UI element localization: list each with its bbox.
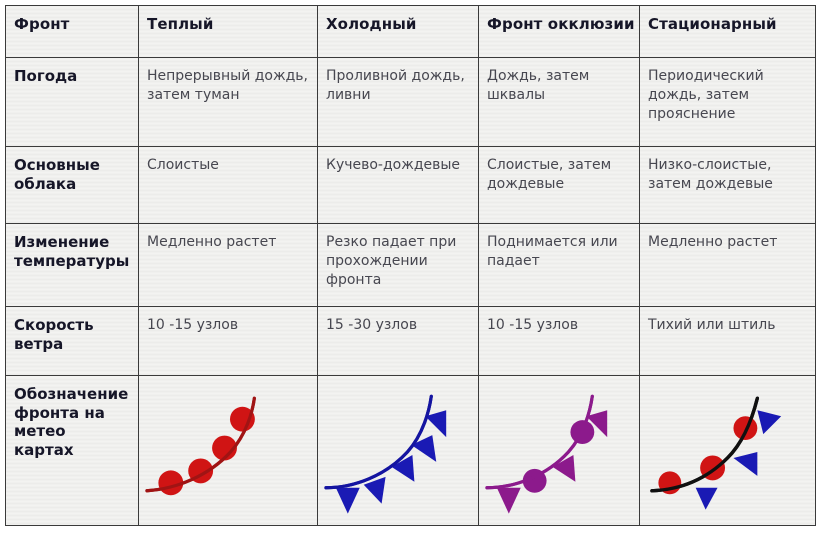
cell-temperature-cold: Резко падает при прохождении фронта	[318, 224, 479, 307]
cell-clouds-occluded: Слоистые, затем дождевые	[479, 147, 640, 224]
cell-wind-speed-stationary: Тихий или штиль	[640, 307, 816, 376]
cell-temperature-occluded: Поднимается или падает	[479, 224, 640, 307]
cell-map-symbol-warm	[139, 376, 318, 526]
occluded-front-symbol	[479, 376, 639, 524]
cell-wind-speed-warm: 10 -15 узлов	[139, 307, 318, 376]
cell-weather-warm: Непрерывный дождь, затем туман	[139, 58, 318, 147]
cold-front-barbs	[336, 410, 446, 513]
cell-temperature-stationary: Медленно растет	[640, 224, 816, 307]
cell-weather-cold: Проливной дождь, ливни	[318, 58, 479, 147]
cell-clouds-warm: Слоистые	[139, 147, 318, 224]
cell-wind-speed-cold: 15 -30 узлов	[318, 307, 479, 376]
front-types-table-page: Фронт Теплый Холодный Фронт окклюзии Ста…	[0, 0, 820, 538]
row-header-temperature: Изменение температуры	[6, 224, 139, 307]
column-header-warm: Теплый	[139, 6, 318, 58]
row-header-weather: Погода	[6, 58, 139, 147]
cell-map-symbol-occluded	[479, 376, 640, 526]
column-header-property: Фронт	[6, 6, 139, 58]
cell-temperature-warm: Медленно растет	[139, 224, 318, 307]
cell-clouds-cold: Кучево-дождевые	[318, 147, 479, 224]
row-header-map-symbol: Обозначение фронта на метео картах	[6, 376, 139, 526]
table-row-weather: Погода Непрерывный дождь, затем туман Пр…	[6, 58, 816, 147]
table-row-wind-speed: Скорость ветра 10 -15 узлов 15 -30 узлов…	[6, 307, 816, 376]
cell-weather-occluded: Дождь, затем шквалы	[479, 58, 640, 147]
cell-map-symbol-stationary	[640, 376, 816, 526]
cell-weather-stationary: Периодический дождь, затем прояснение	[640, 58, 816, 147]
cell-clouds-stationary: Низко-слоистые, затем дождевые	[640, 147, 816, 224]
atmospheric-fronts-table: Фронт Теплый Холодный Фронт окклюзии Ста…	[5, 5, 816, 526]
row-header-clouds: Основные облака	[6, 147, 139, 224]
cell-wind-speed-occluded: 10 -15 узлов	[479, 307, 640, 376]
column-header-occluded: Фронт окклюзии	[479, 6, 640, 58]
table-header-row: Фронт Теплый Холодный Фронт окклюзии Ста…	[6, 6, 816, 58]
table-row-clouds: Основные облака Слоистые Кучево-дождевые…	[6, 147, 816, 224]
cold-front-symbol	[318, 376, 478, 524]
stationary-front-symbol	[640, 376, 815, 524]
cell-map-symbol-cold	[318, 376, 479, 526]
occluded-front-markers	[497, 410, 607, 513]
column-header-stationary: Стационарный	[640, 6, 816, 58]
row-header-wind-speed: Скорость ветра	[6, 307, 139, 376]
table-row-temperature: Изменение температуры Медленно растет Ре…	[6, 224, 816, 307]
warm-front-symbol	[139, 376, 317, 524]
column-header-cold: Холодный	[318, 6, 479, 58]
table-row-map-symbol: Обозначение фронта на метео картах	[6, 376, 816, 526]
stationary-front-warm-bumps	[658, 416, 757, 494]
